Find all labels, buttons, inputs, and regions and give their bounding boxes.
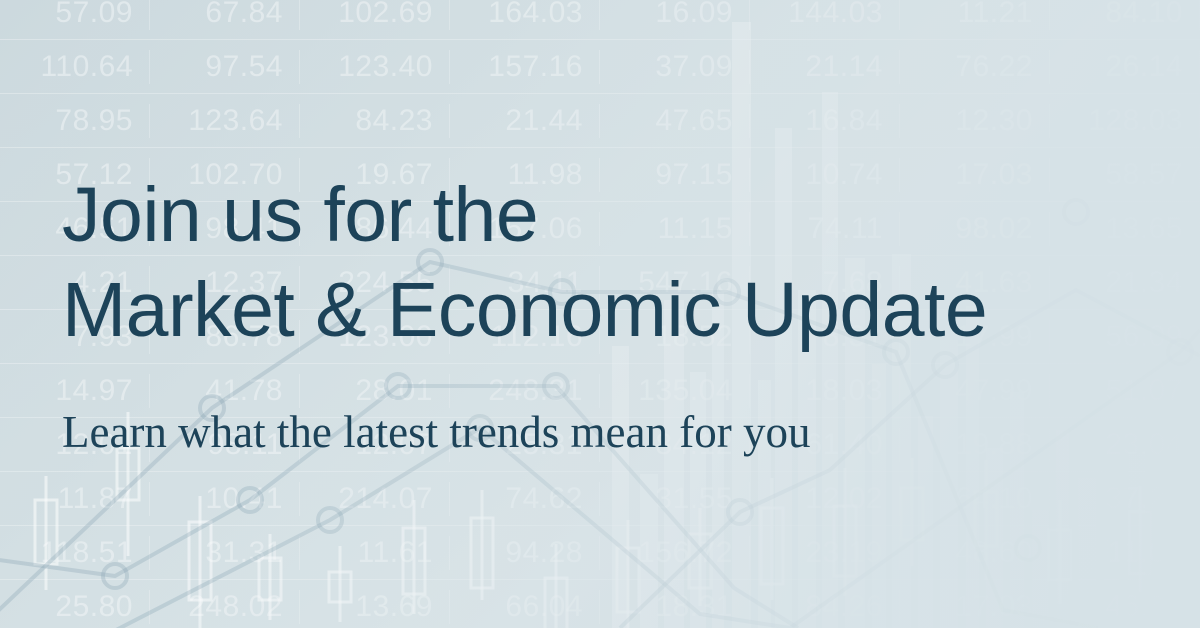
- number-grid-cell: 156.72: [600, 536, 750, 570]
- number-grid-cell: 67.84: [150, 0, 300, 30]
- number-grid-cell: 41.78: [150, 374, 300, 408]
- number-grid-cell: 11.07: [1050, 536, 1200, 570]
- headline-line-1: Join us for the: [62, 168, 1162, 263]
- background-bar: [1056, 430, 1069, 628]
- number-grid-cell: 16.84: [750, 104, 900, 138]
- number-grid-cell: 23.19: [750, 536, 900, 570]
- number-grid-row: 25.80248.0213.6966.0418.3184.2617.0346.6…: [0, 580, 1200, 628]
- subheadline: Learn what the latest trends mean for yo…: [62, 405, 810, 459]
- number-grid-cell: 128.03: [1050, 104, 1200, 138]
- number-grid-cell: 47.99: [900, 374, 1050, 408]
- number-grid-cell: 11.61: [300, 536, 450, 570]
- number-grid-cell: 37.21: [1050, 482, 1200, 516]
- candlestick-body: [975, 492, 997, 546]
- number-grid-cell: 135.04: [600, 374, 750, 408]
- background-bar: [1032, 510, 1049, 628]
- number-grid-cell: 51.07: [1050, 374, 1200, 408]
- number-grid-cell: 97.54: [150, 50, 300, 84]
- background-bar: [612, 346, 629, 628]
- background-line-node: [728, 500, 752, 524]
- candlestick-body: [329, 572, 351, 602]
- background-bar: [640, 474, 658, 628]
- background-bar: [918, 416, 933, 628]
- number-grid-cell: 144.03: [750, 0, 900, 30]
- number-grid-row: 57.0967.84102.69164.0316.09144.0311.2184…: [0, 0, 1200, 40]
- background-line-node: [1016, 536, 1040, 560]
- candlestick-body: [403, 528, 425, 594]
- background-bar: [986, 448, 1003, 628]
- background-line-node: [1168, 340, 1192, 364]
- number-grid-cell: 110.64: [0, 50, 150, 84]
- number-grid-row: 11.8710.41214.0774.6231.5512.0264.1037.2…: [0, 472, 1200, 526]
- number-grid-cell: 123.64: [150, 104, 300, 138]
- background-line-node: [386, 374, 410, 398]
- number-grid-row: 78.95123.6484.2321.4447.6516.8412.30128.…: [0, 94, 1200, 148]
- number-grid-cell: 16.09: [600, 0, 750, 30]
- number-grid-cell: 31.31: [150, 536, 300, 570]
- candlestick-body: [617, 548, 639, 612]
- candlestick-body: [1129, 512, 1151, 574]
- candlestick-body: [1049, 530, 1071, 580]
- number-grid-row: 118.5131.3111.6194.28156.7223.1948.6011.…: [0, 526, 1200, 580]
- number-grid-cell: 21.44: [450, 104, 600, 138]
- number-grid-cell: 21.14: [750, 50, 900, 84]
- background-bar: [1078, 478, 1096, 628]
- number-grid-cell: 25.80: [0, 590, 150, 624]
- number-grid-cell: 28.01: [300, 374, 450, 408]
- candlestick-body: [545, 578, 567, 628]
- number-grid-cell: 37.09: [600, 50, 750, 84]
- candlestick-body: [259, 558, 281, 600]
- candlestick-body: [761, 508, 783, 584]
- number-grid-cell: 66.04: [450, 590, 600, 624]
- number-grid-cell: 17.03: [900, 590, 1050, 624]
- number-grid-cell: 13.69: [300, 590, 450, 624]
- number-grid-cell: 84.10: [1050, 0, 1200, 30]
- candlestick-body: [689, 534, 711, 588]
- number-grid-cell: 11.87: [0, 482, 150, 516]
- number-grid-cell: 23.04: [1050, 428, 1200, 462]
- number-grid-cell: 11.21: [900, 0, 1050, 30]
- background-bar: [1104, 538, 1119, 628]
- number-grid-cell: 31.55: [600, 482, 750, 516]
- candlestick-body: [834, 506, 856, 576]
- number-grid-cell: 102.69: [300, 0, 450, 30]
- number-grid-cell: 74.62: [450, 482, 600, 516]
- number-grid-cell: 157.16: [450, 50, 600, 84]
- number-grid-cell: 47.65: [600, 104, 750, 138]
- marketing-banner: 57.0967.84102.69164.0316.09144.0311.2184…: [0, 0, 1200, 628]
- number-grid-cell: 57.09: [0, 0, 150, 30]
- background-line-node: [238, 488, 262, 512]
- number-grid-cell: 84.26: [750, 590, 900, 624]
- number-grid-cell: 84.23: [300, 104, 450, 138]
- number-grid-cell: 76.22: [900, 50, 1050, 84]
- candlestick-body: [901, 488, 923, 540]
- candlestick-body: [189, 522, 211, 600]
- background-line-node: [544, 374, 568, 398]
- number-grid-cell: 164.03: [450, 0, 600, 30]
- background-bar: [872, 364, 886, 628]
- number-grid-cell: 214.07: [300, 482, 450, 516]
- candlestick-body: [471, 518, 493, 588]
- number-grid-cell: 12.30: [900, 104, 1050, 138]
- number-grid-cell: 12.02: [750, 482, 900, 516]
- number-grid-cell: 10.41: [150, 482, 300, 516]
- number-grid-cell: 94.28: [450, 536, 600, 570]
- number-grid-cell: 78.95: [0, 104, 150, 138]
- number-grid-cell: 64.10: [900, 482, 1050, 516]
- number-grid-cell: 18.03: [750, 374, 900, 408]
- number-grid-cell: 248.02: [150, 590, 300, 624]
- number-grid-cell: 123.40: [300, 50, 450, 84]
- number-grid-cell: 19.88: [900, 428, 1050, 462]
- headline-block: Join us for the Market & Economic Update: [62, 168, 1162, 358]
- background-line-node: [318, 508, 342, 532]
- number-grid-cell: 48.60: [900, 536, 1050, 570]
- number-grid-cell: 18.31: [600, 590, 750, 624]
- background-line-node: [103, 564, 127, 588]
- background-bar: [1128, 452, 1145, 628]
- number-grid-cell: 26.14: [1050, 50, 1200, 84]
- background-bar: [1010, 392, 1024, 628]
- background-trend-line: [0, 330, 1200, 628]
- background-bar: [940, 340, 958, 628]
- candlestick-body: [35, 500, 57, 564]
- number-grid-cell: 118.51: [0, 536, 150, 570]
- number-grid-row: 110.6497.54123.40157.1637.0921.1476.2226…: [0, 40, 1200, 94]
- number-grid-cell: 14.97: [0, 374, 150, 408]
- number-grid-cell: 46.61: [1050, 590, 1200, 624]
- number-grid-cell: 248.31: [450, 374, 600, 408]
- background-bar: [1154, 560, 1168, 628]
- headline-line-2: Market & Economic Update: [62, 263, 1162, 358]
